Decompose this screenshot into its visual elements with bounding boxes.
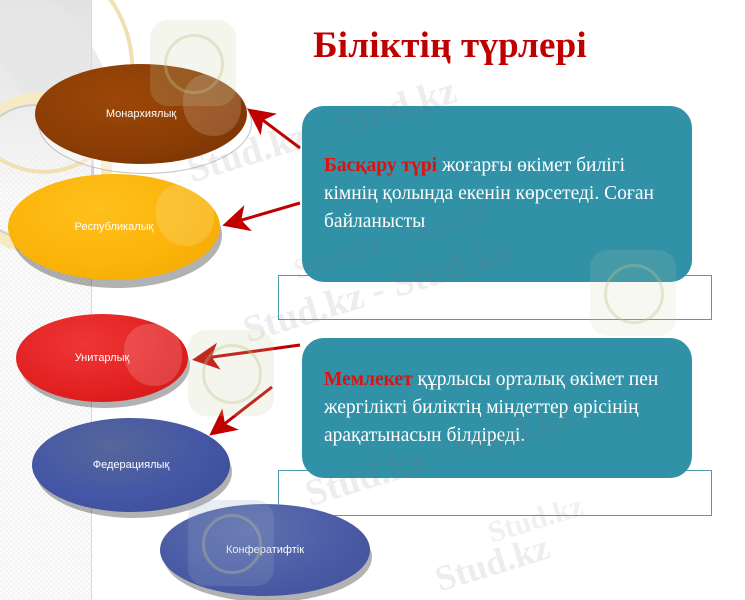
- gloss-highlight-icon: [124, 324, 182, 386]
- ellipse-label: Унитарлық: [75, 351, 130, 365]
- watermark-logo-icon: [188, 330, 274, 416]
- ellipse-label: Федерациялық: [93, 458, 170, 472]
- ellipse-monarchy[interactable]: Монархиялық: [35, 64, 247, 164]
- ellipse-unitary[interactable]: Унитарлық: [16, 314, 188, 402]
- content-box-text: Басқару түрі жоғарғы өкімет билігі кімні…: [324, 152, 670, 236]
- content-box-state-structure[interactable]: Мемлекет құрлысы орталық өкімет пен жерг…: [302, 338, 692, 478]
- presentation-slide: Біліктің түрлері Монархиялық Республикал…: [0, 0, 745, 600]
- arrow-to-republic: [228, 203, 300, 224]
- ellipse-label: Монархиялық: [106, 107, 176, 121]
- ellipse-republic[interactable]: Республикалық: [8, 174, 220, 280]
- gloss-highlight-icon: [183, 74, 241, 136]
- gloss-highlight-icon: [156, 184, 214, 246]
- content-box-government-type[interactable]: Басқару түрі жоғарғы өкімет билігі кімні…: [302, 106, 692, 282]
- arrow-to-unitary: [198, 345, 300, 359]
- content-box-keyword: Басқару түрі: [324, 155, 437, 176]
- watermark-text: Stud.kz: [430, 526, 554, 600]
- content-box-text: Мемлекет құрлысы орталық өкімет пен жерг…: [324, 366, 670, 450]
- arrow-to-federation: [214, 387, 272, 432]
- ellipse-federation[interactable]: Федерациялық: [32, 418, 230, 512]
- content-box-keyword: Мемлекет: [324, 369, 413, 390]
- ellipse-label: Конфератифтік: [226, 543, 304, 557]
- ellipse-confederation[interactable]: Конфератифтік: [160, 504, 370, 596]
- arrow-to-monarchy: [252, 112, 300, 148]
- page-title: Біліктің түрлері: [240, 24, 660, 68]
- ellipse-label: Республикалық: [75, 220, 154, 234]
